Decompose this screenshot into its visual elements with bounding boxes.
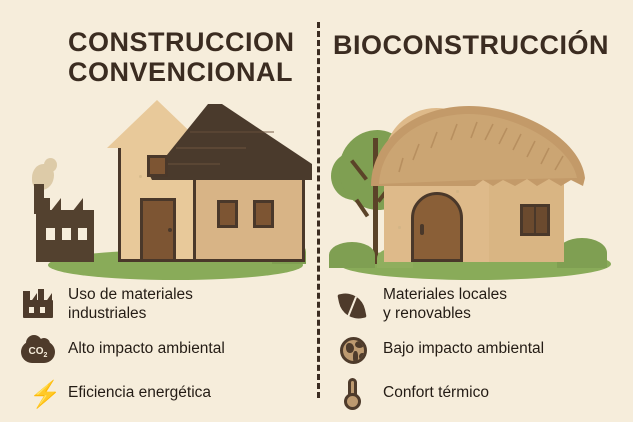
window-mullion — [534, 206, 536, 234]
attic-window — [147, 155, 168, 177]
conventional-house-illustration — [0, 100, 317, 285]
legend-label: Uso de materiales industriales — [68, 286, 193, 324]
factory-window — [46, 228, 55, 240]
lightning-bolt-icon: ⚡ — [18, 376, 58, 412]
legend-label-line2: industriales — [68, 305, 146, 322]
legend-item-bajo-impacto[interactable]: Bajo impacto ambiental — [333, 332, 623, 368]
right-panel-title: BIOCONSTRUCCIÓN — [333, 30, 609, 60]
left-panel-title: CONSTRUCCION CONVENCIONAL — [68, 27, 295, 87]
bush — [329, 242, 375, 268]
factory-window — [62, 228, 71, 240]
legend-label-line1: Confort térmico — [383, 384, 489, 401]
legend-label-line1: Alto impacto ambiental — [68, 340, 225, 357]
legend-label-line2: y renovables — [383, 305, 471, 322]
legend-label: Alto impacto ambiental — [68, 340, 225, 359]
legend-label-line1: Bajo impacto ambiental — [383, 340, 544, 357]
legend-label-line1: Uso de materiales — [68, 286, 193, 303]
thatched-roof — [357, 100, 597, 197]
legend-label-line1: Materiales locales — [383, 286, 507, 303]
legend-item-confort-termico[interactable]: Confort térmico — [333, 376, 623, 412]
bush — [557, 238, 607, 268]
left-title-line2: CONVENCIONAL — [68, 57, 295, 87]
thermometer-icon — [333, 376, 373, 412]
legend-label-line1: Eficiencia energética — [68, 384, 211, 401]
house-window — [253, 200, 274, 228]
house-window — [217, 200, 238, 228]
door-handle-icon — [420, 224, 424, 235]
door-knob-icon — [168, 228, 172, 232]
globe-icon — [333, 332, 373, 368]
leaf-icon — [333, 287, 373, 323]
infographic-canvas: CONSTRUCCION CONVENCIONAL BIOCONSTRUCCIÓ… — [0, 0, 633, 422]
left-title-line1: CONSTRUCCION — [68, 27, 295, 57]
co2-cloud-icon: CO2 — [18, 332, 58, 368]
bioconstruction-house-illustration — [317, 100, 633, 285]
house-roof — [150, 104, 312, 178]
co2-icon-text: CO2 — [23, 346, 53, 359]
legend-label: Bajo impacto ambiental — [383, 340, 544, 359]
legend-item-materiales-locales[interactable]: Materiales locales y renovables — [333, 286, 623, 324]
left-legend: Uso de materiales industriales CO2 Alto … — [18, 286, 308, 420]
legend-item-alto-impacto[interactable]: CO2 Alto impacto ambiental — [18, 332, 308, 368]
right-legend: Materiales locales y renovables Bajo imp… — [333, 286, 623, 420]
factory-window — [78, 228, 87, 240]
bolt-glyph: ⚡ — [29, 382, 61, 406]
house-side-wall — [193, 172, 305, 262]
legend-label: Confort térmico — [383, 384, 489, 403]
legend-item-eficiencia-energetica[interactable]: ⚡ Eficiencia energética — [18, 376, 308, 412]
right-title-line1: BIOCONSTRUCCIÓN — [333, 30, 609, 60]
legend-label: Eficiencia energética — [68, 384, 211, 403]
smoke-puff-small — [44, 158, 57, 172]
arched-door — [411, 192, 463, 262]
legend-item-materiales-industriales[interactable]: Uso de materiales industriales — [18, 286, 308, 324]
legend-label: Materiales locales y renovables — [383, 286, 507, 324]
factory-icon — [18, 287, 58, 323]
